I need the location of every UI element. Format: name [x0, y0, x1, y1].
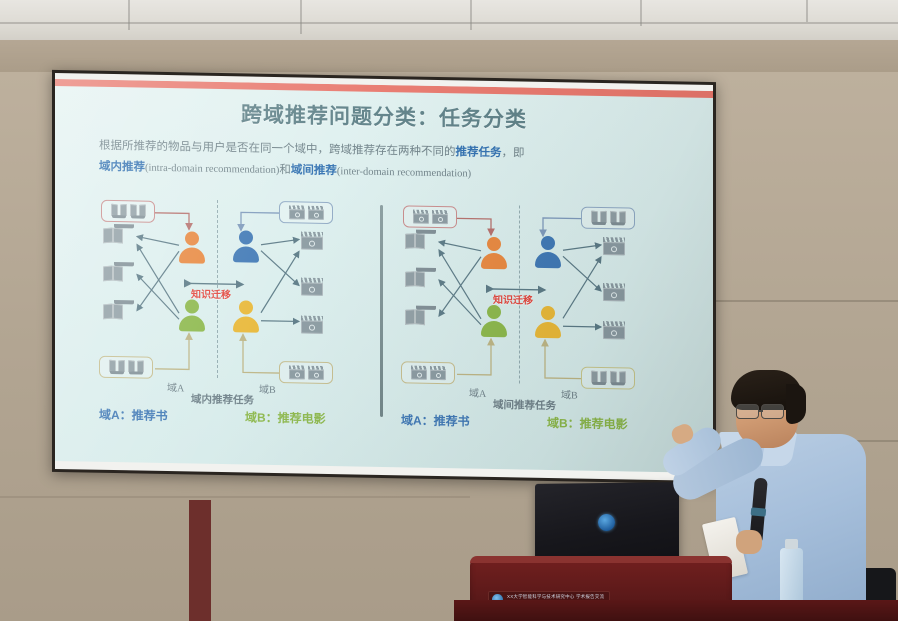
box-inter-bottom-right — [581, 367, 635, 390]
item-book — [113, 228, 135, 246]
item-movie — [603, 283, 625, 301]
item-book — [113, 266, 135, 284]
legend-domain-b-intra: 域B：推荐电影 — [245, 408, 326, 426]
domain-a-label-inter: 域A — [469, 385, 486, 400]
item-book — [113, 304, 135, 322]
box-intra-bottom-right — [279, 361, 333, 384]
book-icon — [591, 371, 607, 385]
book-icon — [610, 371, 626, 385]
body-term-intra-cn: 域内推荐 — [99, 161, 145, 174]
box-intra-top-left — [101, 200, 155, 223]
item-book — [415, 310, 437, 328]
item-movie — [301, 277, 323, 295]
clapperboard-icon — [308, 206, 324, 220]
body-term-intra-en: (intra-domain recommendation) — [145, 163, 279, 176]
domain-a-label-intra: 域A — [167, 379, 184, 394]
user-avatar-orange — [179, 231, 205, 263]
book-icon — [610, 211, 626, 225]
box-inter-top-left — [403, 205, 457, 228]
box-inter-bottom-left — [401, 361, 455, 384]
glasses-lens-left — [736, 404, 759, 419]
foreground-table — [454, 600, 898, 621]
clapperboard-icon — [308, 366, 324, 380]
panel-intra-domain: 知识迁移 域A 域B 域内推荐任务 域A：推荐书 域B：推荐电影 — [93, 192, 383, 425]
legend-domain-a-intra: 域A：推荐书 — [99, 406, 168, 424]
body-line1-part-a: 根据所推荐的物品与用户是否在同一个域中，跨域推荐存在两种不同的 — [99, 140, 456, 159]
task-caption-inter: 域间推荐任务 — [493, 397, 556, 413]
user-avatar-orange — [481, 237, 507, 269]
book-icon — [591, 211, 607, 225]
clapperboard-icon — [413, 210, 429, 224]
projection-screen-frame: 跨域推荐问题分类：任务分类 根据所推荐的物品与用户是否在同一个域中，跨域推荐存在… — [52, 70, 716, 484]
podium-top-edge — [470, 556, 732, 563]
clapperboard-icon — [289, 205, 305, 219]
speaker-hair-side — [786, 384, 806, 424]
bottle-cap — [785, 539, 798, 549]
domain-b-label-inter: 域B — [561, 386, 578, 401]
item-movie — [603, 321, 625, 339]
body-line1-highlight: 推荐任务 — [456, 146, 502, 159]
book-icon — [109, 360, 125, 374]
user-avatar-green — [481, 305, 507, 337]
clapperboard-icon — [411, 365, 427, 379]
item-movie — [603, 237, 625, 255]
legend-domain-a-inter: 域A：推荐书 — [401, 411, 470, 429]
legend-domain-b-inter: 域B：推荐电影 — [547, 414, 628, 432]
task-caption-intra: 域内推荐任务 — [191, 391, 254, 407]
user-avatar-blue — [233, 230, 259, 262]
clapperboard-icon — [430, 366, 446, 380]
book-icon — [128, 360, 144, 374]
item-movie — [301, 315, 323, 333]
panel-inter-domain: 知识迁移 域A 域B 域间推荐任务 域A：推荐书 域B：推荐电影 — [395, 197, 685, 430]
book-icon — [130, 204, 146, 218]
box-intra-bottom-left — [99, 356, 153, 379]
user-avatar-green — [179, 299, 205, 331]
glasses-bridge — [759, 410, 763, 412]
body-term-inter-cn: 域间推荐 — [291, 164, 337, 177]
user-avatar-yellow — [233, 300, 259, 332]
presentation-slide: 跨域推荐问题分类：任务分类 根据所推荐的物品与用户是否在同一个域中，跨域推荐存在… — [55, 79, 713, 473]
monitor-logo-icon — [598, 514, 615, 531]
glasses-lens-right — [761, 404, 784, 419]
user-avatar-yellow — [535, 306, 561, 338]
diagram-area: 知识迁移 域A 域B 域内推荐任务 域A：推荐书 域B：推荐电影 — [55, 191, 713, 431]
body-term-inter-en: (inter-domain recommendation) — [337, 166, 471, 179]
box-inter-top-right — [581, 207, 635, 230]
speaker-lower-hand — [736, 530, 762, 554]
projection-screen: 跨域推荐问题分类：任务分类 根据所推荐的物品与用户是否在同一个域中，跨域推荐存在… — [55, 73, 713, 481]
knowledge-transfer-label-intra: 知识迁移 — [191, 285, 231, 301]
clapperboard-icon — [432, 210, 448, 224]
slide-body-text: 根据所推荐的物品与用户是否在同一个域中，跨域推荐存在两种不同的推荐任务，即 域内… — [99, 136, 677, 189]
item-book — [415, 234, 437, 252]
domain-b-label-intra: 域B — [259, 381, 276, 396]
conference-room-scene: 跨域推荐问题分类：任务分类 根据所推荐的物品与用户是否在同一个域中，跨域推荐存在… — [0, 0, 898, 621]
knowledge-transfer-label-inter: 知识迁移 — [493, 291, 533, 307]
book-icon — [111, 204, 127, 218]
box-intra-top-right — [279, 201, 333, 224]
body-line2-conjunction: 和 — [279, 164, 291, 176]
wall-accent-strip — [189, 500, 211, 621]
slide-title: 跨域推荐问题分类：任务分类 — [55, 95, 713, 137]
clapperboard-icon — [289, 365, 305, 379]
user-avatar-blue — [535, 236, 561, 268]
slide-accent-bar — [55, 79, 713, 98]
item-book — [415, 272, 437, 290]
body-line1-part-b: ，即 — [502, 147, 525, 159]
item-movie — [301, 231, 323, 249]
